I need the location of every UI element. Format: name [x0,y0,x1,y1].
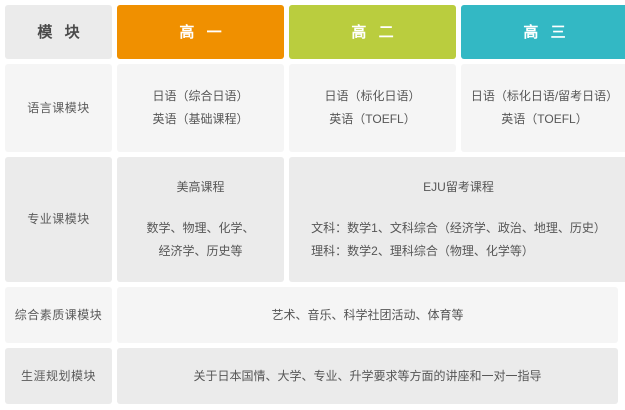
header-cell-grade3: 高 三 [461,5,625,59]
cell-text-line: 理科：数学2、理科综合（物理、化学等） [311,240,534,263]
row-label-language: 语言课模块 [5,64,112,152]
cell-text-line: 英语（基础课程） [152,108,248,131]
cell-text-line: 文科：数学1、文科综合（经济学、政治、地理、历史） [311,217,606,240]
cell-text-line: 日语（标化日语/留考日语） [471,85,618,108]
cell-detail-group: 数学、物理、化学、 经济学、历史等 [146,217,254,263]
cell-text-line: 英语（TOEFL） [501,108,587,131]
header-label-module: 模 块 [33,21,83,44]
table-row: 生涯规划模块 关于日本国情、大学、专业、升学要求等方面的讲座和一对一指导 [5,348,619,404]
cell-detail-group: 文科：数学1、文科综合（经济学、政治、地理、历史） 理科：数学2、理科综合（物理… [311,217,606,263]
header-label-grade3: 高 三 [519,21,569,44]
cell-major-eju-merged: EJU留考课程 文科：数学1、文科综合（经济学、政治、地理、历史） 理科：数学2… [289,157,625,282]
table-header-row: 模 块 高 一 高 二 高 三 [5,5,619,59]
module-label: 专业课模块 [27,208,90,231]
cell-text-line: 经济学、历史等 [158,240,242,263]
cell-title: EJU留考课程 [423,176,494,199]
module-label: 语言课模块 [27,97,90,120]
cell-language-grade3: 日语（标化日语/留考日语） 英语（TOEFL） [461,64,625,152]
table-row: 语言课模块 日语（综合日语） 英语（基础课程） 日语（标化日语） 英语（TOEF… [5,64,619,152]
row-label-career: 生涯规划模块 [5,348,112,404]
cell-text-line: 英语（TOEFL） [329,108,415,131]
row-label-quality: 综合素质课模块 [5,287,112,343]
header-cell-module: 模 块 [5,5,112,59]
cell-quality-merged: 艺术、音乐、科学社团活动、体育等 [117,287,618,343]
cell-language-grade1: 日语（综合日语） 英语（基础课程） [117,64,284,152]
cell-major-grade1: 美高课程 数学、物理、化学、 经济学、历史等 [117,157,284,282]
header-cell-grade2: 高 二 [289,5,456,59]
table-row: 综合素质课模块 艺术、音乐、科学社团活动、体育等 [5,287,619,343]
cell-title: 美高课程 [176,176,224,199]
table-row: 专业课模块 美高课程 数学、物理、化学、 经济学、历史等 EJU留考课程 文科：… [5,157,619,282]
module-label: 综合素质课模块 [15,304,103,327]
cell-text-line: 艺术、音乐、科学社团活动、体育等 [271,304,463,327]
header-label-grade2: 高 二 [347,21,397,44]
cell-text-line: 日语（标化日语） [324,85,420,108]
cell-text-line: 日语（综合日语） [152,85,248,108]
header-label-grade1: 高 一 [175,21,225,44]
cell-language-grade2: 日语（标化日语） 英语（TOEFL） [289,64,456,152]
row-label-major: 专业课模块 [5,157,112,282]
cell-text-line: 关于日本国情、大学、专业、升学要求等方面的讲座和一对一指导 [193,365,541,388]
module-label: 生涯规划模块 [21,365,96,388]
cell-career-merged: 关于日本国情、大学、专业、升学要求等方面的讲座和一对一指导 [117,348,618,404]
curriculum-table: 模 块 高 一 高 二 高 三 语言课模块 日语（综合日语） 英语（基础课程） … [0,0,625,410]
header-cell-grade1: 高 一 [117,5,284,59]
cell-text-line: 数学、物理、化学、 [146,217,254,240]
